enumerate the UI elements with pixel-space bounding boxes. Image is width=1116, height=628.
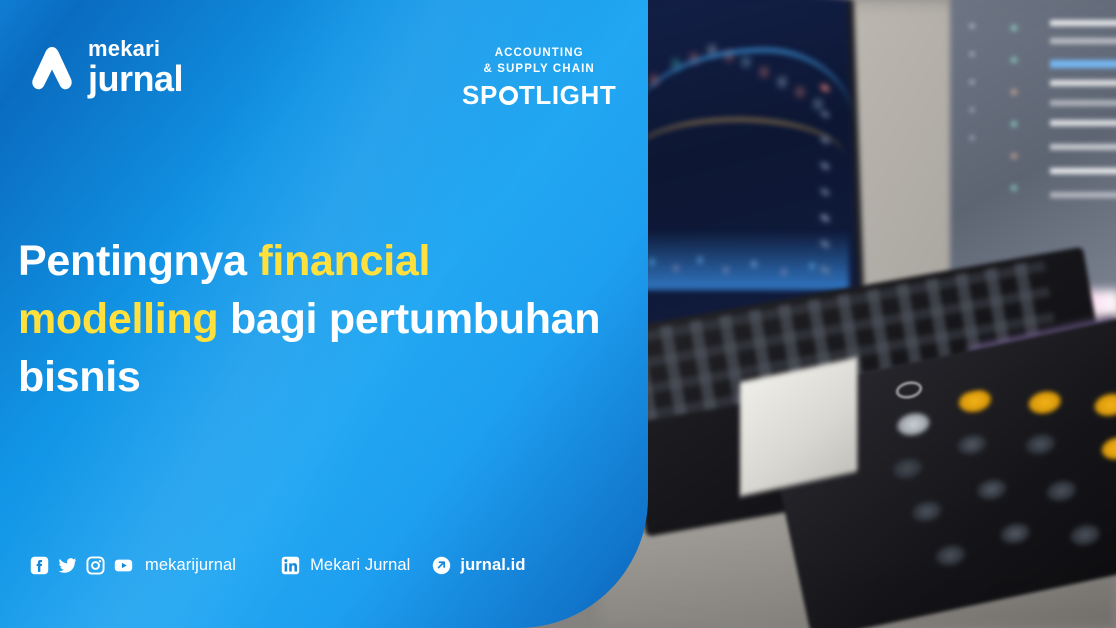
linkedin-group: Mekari Jurnal — [281, 556, 410, 575]
youtube-icon[interactable] — [114, 556, 133, 575]
spotlight-line-supply-chain: & SUPPLY CHAIN — [462, 62, 616, 78]
spotlight-wordmark: SP TLIGHT — [462, 80, 616, 111]
social-handle-group: mekarijurnal — [30, 556, 236, 575]
social-icon-row — [30, 556, 133, 575]
mekari-jurnal-logo[interactable]: mekari jurnal — [30, 38, 183, 97]
headline-part-1: Pentingnya — [18, 237, 258, 285]
ring-o-icon — [499, 86, 518, 105]
instagram-icon[interactable] — [86, 556, 105, 575]
footer-bar: mekarijurnal Mekari Jurnal — [30, 556, 526, 575]
mekari-arrow-mark-icon — [30, 43, 74, 93]
website-label: jurnal.id — [460, 556, 525, 575]
website-group[interactable]: jurnal.id — [432, 556, 525, 575]
social-handle-label: mekarijurnal — [145, 556, 236, 575]
logo-word-jurnal: jurnal — [88, 61, 183, 97]
linkedin-name-label: Mekari Jurnal — [310, 556, 410, 575]
spotlight-line-accounting: ACCOUNTING — [462, 46, 616, 62]
spotlight-lockup: ACCOUNTING & SUPPLY CHAIN SP TLIGHT — [462, 46, 616, 111]
blue-content-panel: mekari jurnal ACCOUNTING & SUPPLY CHAIN … — [0, 0, 648, 628]
logo-wordmark: mekari jurnal — [88, 38, 183, 97]
arrow-up-right-circle-icon[interactable] — [432, 556, 451, 575]
facebook-icon[interactable] — [30, 556, 49, 575]
linkedin-icon[interactable] — [281, 556, 300, 575]
page-title: Pentingnya financial modelling bagi pert… — [18, 232, 618, 406]
promo-banner: mekari jurnal ACCOUNTING & SUPPLY CHAIN … — [0, 0, 1116, 628]
spotlight-tlight: TLIGHT — [519, 80, 616, 111]
spotlight-sp: SP — [462, 80, 498, 111]
twitter-icon[interactable] — [58, 556, 77, 575]
logo-word-mekari: mekari — [88, 38, 183, 60]
